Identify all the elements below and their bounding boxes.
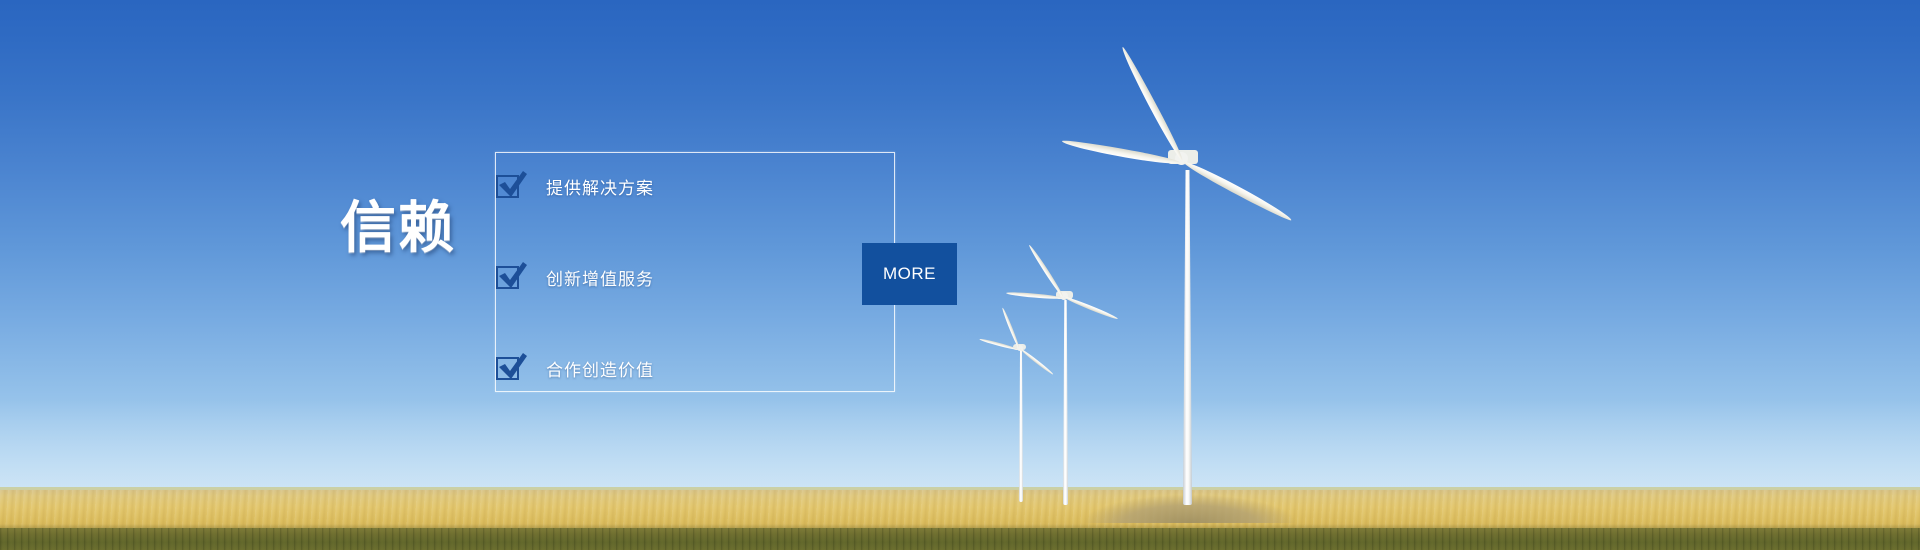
checkbox-checked-icon[interactable] <box>496 175 519 198</box>
list-item[interactable]: 创新增值服务 <box>496 254 836 300</box>
list-item-label: 提供解决方案 <box>546 174 654 199</box>
hero-banner: 信赖 提供解决方案 创新增值服务 合 <box>0 0 1920 550</box>
page-title: 信赖 <box>340 196 510 260</box>
list-item[interactable]: 提供解决方案 <box>496 163 836 209</box>
feature-checklist: 提供解决方案 创新增值服务 合作创造价值 <box>496 163 836 391</box>
checkbox-checked-icon[interactable] <box>496 266 519 289</box>
list-item-label: 合作创造价值 <box>546 356 654 381</box>
list-item[interactable]: 合作创造价值 <box>496 345 836 391</box>
checkbox-checked-icon[interactable] <box>496 357 519 380</box>
grass-strip <box>0 528 1920 550</box>
list-item-label: 创新增值服务 <box>546 265 654 290</box>
more-button[interactable]: MORE <box>862 243 957 305</box>
